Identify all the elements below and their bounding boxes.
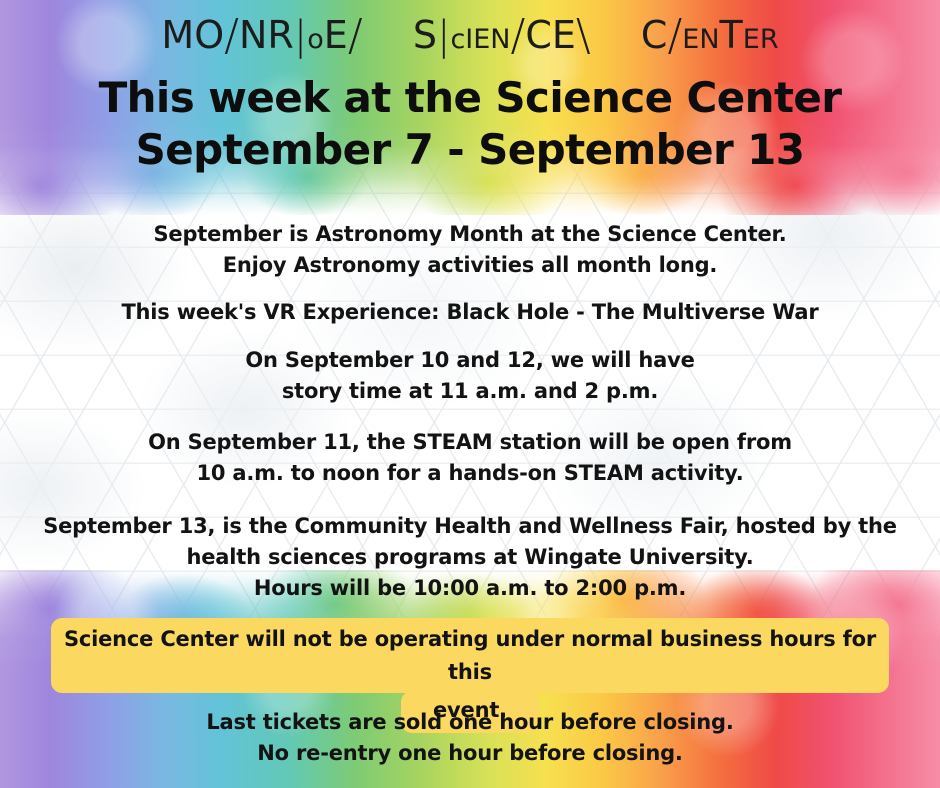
notice-highlight-line-1: Science Center will not be operating und… [51,618,889,693]
story-line-2: story time at 11 a.m. and 2 p.m. [0,376,940,407]
astronomy-line-1: September is Astronomy Month at the Scie… [0,219,940,250]
logo-t: T [720,13,743,57]
logo-word-monroe: MO/NR|oE/ [161,12,362,56]
logo-bar-1: | [294,16,307,56]
monroe-science-center-logo: MO/NR|oE/ S|cIEN/CE\ C/ENTER [0,12,940,56]
logo-en-2: EN [682,24,719,55]
logo-slash-4: / [667,14,682,58]
logo-mo: MO [161,13,224,57]
logo-c: C [641,13,668,57]
logo-e: E [324,13,348,57]
wellness-fair-paragraph: September 13, is the Community Health an… [0,511,940,604]
event-poster: MO/NR|oE/ S|cIEN/CE\ C/ENTER This week a… [0,0,940,788]
headline-line-2: September 7 - September 13 [0,124,940,176]
steam-line-1: On September 11, the STEAM station will … [0,427,940,458]
fair-line-2: health sciences programs at Wingate Univ… [0,542,940,573]
logo-en-1: EN [473,24,510,55]
logo-backslash: \ [576,14,591,58]
vr-line-1: This week's VR Experience: Black Hole - … [0,297,940,328]
ticket-policy-paragraph: Last tickets are sold one hour before cl… [0,707,940,769]
vr-experience-paragraph: This week's VR Experience: Black Hole - … [0,297,940,328]
story-time-paragraph: On September 10 and 12, we will have sto… [0,345,940,407]
page-title: This week at the Science Center Septembe… [0,72,940,176]
logo-bar-2: | [437,16,450,56]
logo-o: o [307,24,324,55]
logo-s: S [413,13,437,57]
logo-nr: NR [239,13,294,57]
steam-station-paragraph: On September 11, the STEAM station will … [0,427,940,489]
fair-line-3: Hours will be 10:00 a.m. to 2:00 p.m. [0,573,940,604]
poster-content: MO/NR|oE/ S|cIEN/CE\ C/ENTER This week a… [0,0,940,788]
logo-ce: CE [525,13,576,57]
astronomy-month-paragraph: September is Astronomy Month at the Scie… [0,219,940,281]
logo-slash-1: / [224,14,239,58]
logo-slash-3: / [511,14,526,58]
logo-ci: cI [450,24,473,55]
fair-line-1: September 13, is the Community Health an… [0,511,940,542]
headline-line-1: This week at the Science Center [0,72,940,124]
astronomy-line-2: Enjoy Astronomy activities all month lon… [0,250,940,281]
closing-line-1: Last tickets are sold one hour before cl… [0,707,940,738]
story-line-1: On September 10 and 12, we will have [0,345,940,376]
closing-line-2: No re-entry one hour before closing. [0,738,940,769]
logo-er: ER [743,24,779,55]
logo-word-science: S|cIEN/CE\ [413,12,591,56]
logo-slash-2: / [348,14,363,58]
steam-line-2: 10 a.m. to noon for a hands-on STEAM act… [0,458,940,489]
logo-word-center: C/ENTER [641,12,779,56]
